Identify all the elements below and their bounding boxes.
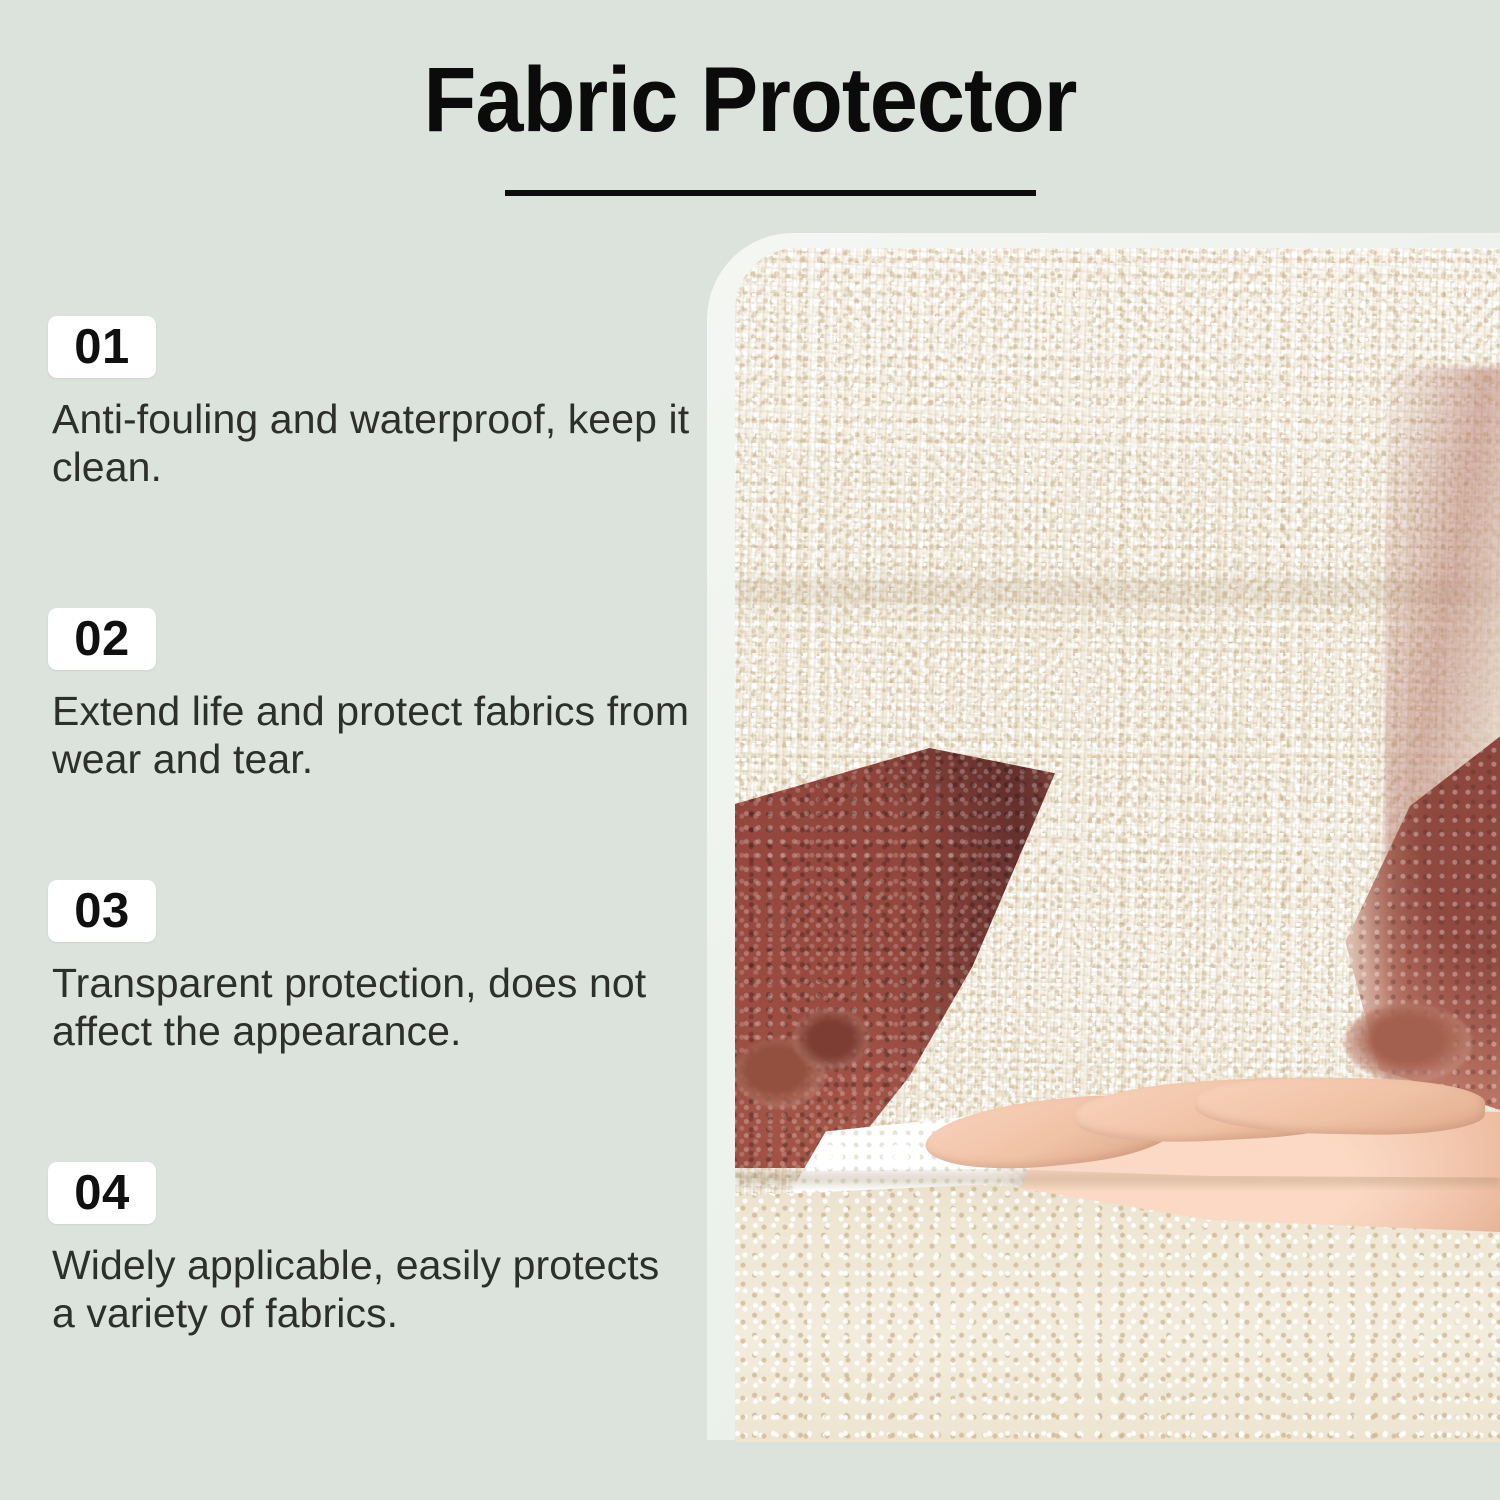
wine-stain-residue-mid	[793, 1008, 869, 1070]
page-title: Fabric Protector	[45, 54, 1455, 148]
feature-item-02: 02 Extend life and protect fabrics from …	[48, 608, 698, 783]
feature-badge-02: 02	[48, 608, 156, 670]
feature-number-02: 02	[48, 608, 156, 670]
product-photo	[735, 248, 1500, 1442]
feature-number-01: 01	[48, 316, 156, 378]
feature-badge-03: 03	[48, 880, 156, 942]
product-photo-panel	[707, 233, 1500, 1442]
feature-text-02: Extend life and protect fabrics from wea…	[52, 688, 692, 783]
feature-item-01: 01 Anti-fouling and waterproof, keep it …	[48, 316, 698, 491]
feature-item-03: 03 Transparent protection, does not affe…	[48, 880, 698, 1055]
feature-number-03: 03	[48, 880, 156, 942]
feature-number-04: 04	[48, 1162, 156, 1224]
feature-text-03: Transparent protection, does not affect …	[52, 960, 692, 1055]
title-divider	[505, 190, 1036, 196]
feature-badge-04: 04	[48, 1162, 156, 1224]
product-infographic: Fabric Protector 01 Anti-fouling and wat…	[0, 0, 1500, 1500]
page-title-block: Fabric Protector	[0, 54, 1500, 148]
feature-text-01: Anti-fouling and waterproof, keep it cle…	[52, 396, 692, 491]
feature-item-04: 04 Widely applicable, easily protects a …	[48, 1162, 698, 1337]
feature-text-04: Widely applicable, easily protects a var…	[52, 1242, 692, 1337]
feature-badge-01: 01	[48, 316, 156, 378]
wine-stain-residue-right	[1344, 1004, 1472, 1082]
